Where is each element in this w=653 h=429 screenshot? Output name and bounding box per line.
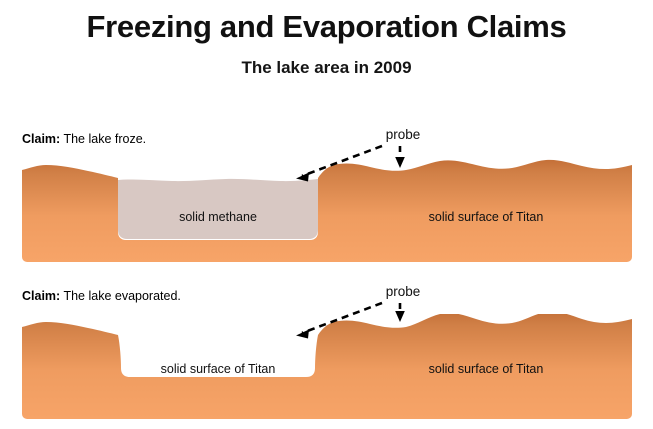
- solid-methane-fill: [118, 179, 318, 239]
- evaporated-scene-graphic: probe: [0, 267, 653, 422]
- probe-label-evaporated: probe: [386, 284, 421, 299]
- terrain-body-frozen: [22, 160, 632, 262]
- terrain-body-evaporated: [22, 312, 632, 419]
- probe-arrow-to-surface-frozen: [395, 146, 405, 168]
- diagram-page: Freezing and Evaporation Claims The lake…: [0, 0, 653, 429]
- panel-evaporated-claim: Claim: The lake evaporated. probe: [0, 267, 653, 422]
- page-subtitle: The lake area in 2009: [0, 58, 653, 78]
- frozen-scene-graphic: probe: [0, 110, 653, 265]
- probe-arrow-to-surface-evaporated: [395, 303, 405, 322]
- panel-frozen-claim: Claim: The lake froze.: [0, 110, 653, 265]
- probe-label-frozen: probe: [386, 127, 421, 142]
- page-title: Freezing and Evaporation Claims: [0, 9, 653, 45]
